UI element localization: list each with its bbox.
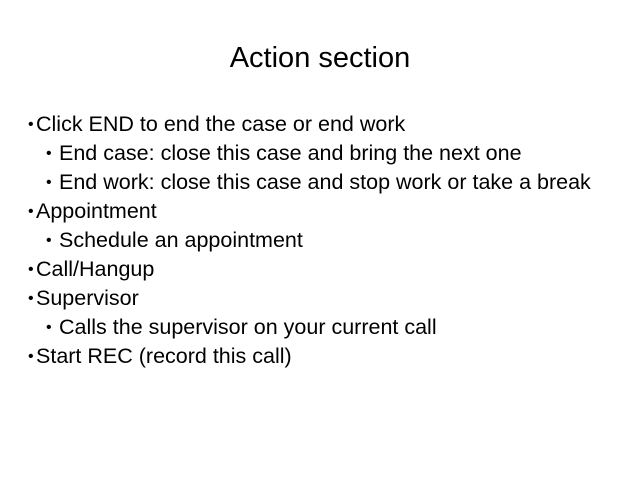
list-item: • Supervisor [28, 284, 612, 313]
list-item-label: End work: close this case and stop work … [59, 168, 612, 197]
list-item-label: End case: close this case and bring the … [59, 139, 612, 168]
list-item: • End work: close this case and stop wor… [28, 168, 612, 197]
page-title: Action section [0, 41, 640, 75]
bullet-icon: • [46, 226, 54, 255]
list-item-label: Start REC (record this call) [36, 342, 612, 371]
bullet-icon: • [28, 284, 36, 313]
bullet-list: • Click END to end the case or end work … [28, 110, 612, 371]
list-item: • Start REC (record this call) [28, 342, 612, 371]
list-item-label: Appointment [36, 197, 612, 226]
list-item-label: Supervisor [36, 284, 612, 313]
bullet-icon: • [46, 313, 54, 342]
list-item: • Click END to end the case or end work [28, 110, 612, 139]
list-item: • Appointment [28, 197, 612, 226]
list-item: • End case: close this case and bring th… [28, 139, 612, 168]
slide: Action section • Click END to end the ca… [0, 0, 640, 480]
list-item-label: Call/Hangup [36, 255, 612, 284]
bullet-icon: • [28, 110, 36, 139]
bullet-icon: • [28, 342, 36, 371]
bullet-icon: • [28, 197, 36, 226]
list-item-label: Calls the supervisor on your current cal… [59, 313, 612, 342]
list-item-label: Click END to end the case or end work [36, 110, 612, 139]
list-item-label: Schedule an appointment [59, 226, 612, 255]
bullet-icon: • [46, 139, 54, 168]
list-item: • Schedule an appointment [28, 226, 612, 255]
bullet-icon: • [46, 168, 54, 197]
bullet-icon: • [28, 255, 36, 284]
list-item: • Calls the supervisor on your current c… [28, 313, 612, 342]
list-item: • Call/Hangup [28, 255, 612, 284]
